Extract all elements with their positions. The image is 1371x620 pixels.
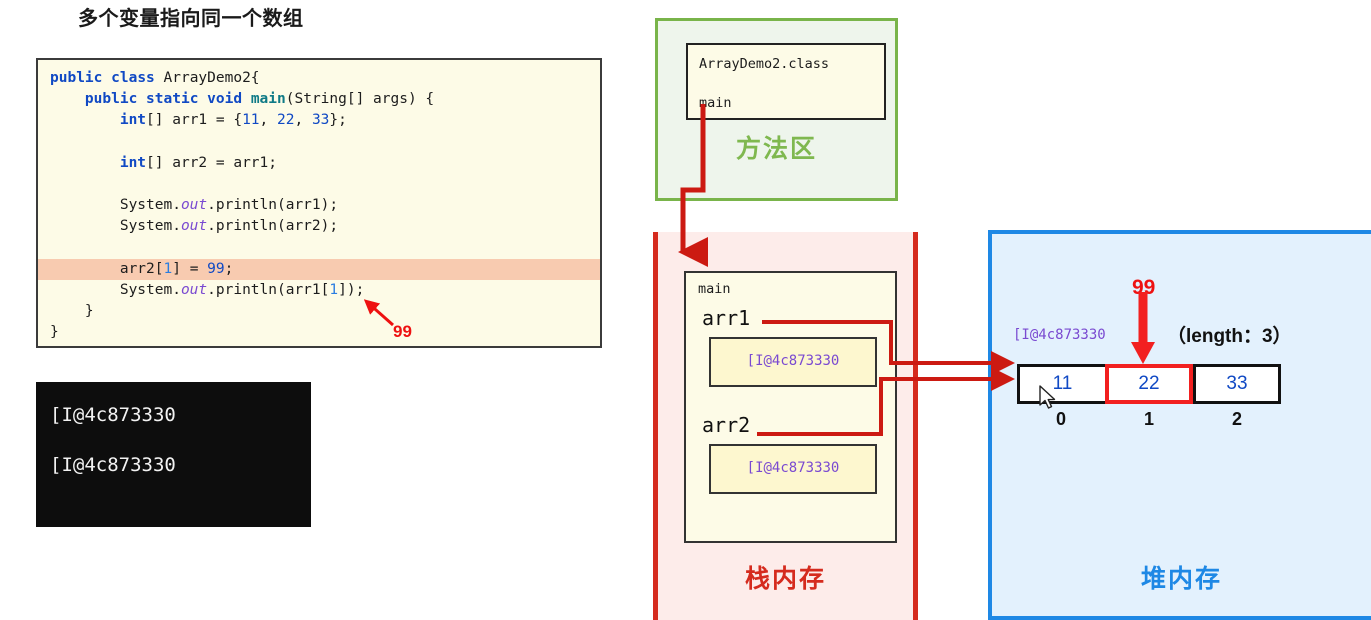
code-line <box>38 238 600 259</box>
code-line: System.out.println(arr1[1]); <box>38 280 600 301</box>
console-line: [I@4c873330 <box>50 454 176 476</box>
code-line: public static void main(String[] args) { <box>38 89 600 110</box>
array-index-0: 0 <box>1017 409 1105 430</box>
stack-memory-label: 栈内存 <box>658 559 913 595</box>
variable-name-arr2: arr2 <box>702 413 750 437</box>
code-line-highlighted: arr2[1] = 99; <box>38 259 600 280</box>
heap-memory-label: 堆内存 <box>992 559 1371 595</box>
method-area-label: 方法区 <box>658 129 895 165</box>
array-cell-1: 22 <box>1105 364 1193 404</box>
code-line: System.out.println(arr2); <box>38 216 600 237</box>
array-index-row: 0 1 2 <box>1017 409 1281 430</box>
variable-slot-arr1: [I@4c873330 <box>709 337 877 387</box>
stack-frame-title: main <box>698 281 731 297</box>
class-name-label: ArrayDemo2.class <box>699 56 829 72</box>
loaded-class-box: ArrayDemo2.class main <box>686 43 886 120</box>
console-output-panel: [I@4c873330 [I@4c873330 <box>36 382 311 527</box>
stack-memory-box: main arr1 [I@4c873330 arr2 [I@4c873330 栈… <box>653 232 918 620</box>
variable-name-arr1: arr1 <box>702 306 750 330</box>
array-cell-2: 33 <box>1193 364 1281 404</box>
heap-memory-box: 99 [I@4c873330 （length：3） 11 22 33 0 1 2… <box>988 230 1371 620</box>
array-index-2: 2 <box>1193 409 1281 430</box>
code-editor-panel: public class ArrayDemo2{ public static v… <box>36 58 602 348</box>
page-title: 多个变量指向同一个数组 <box>78 2 304 31</box>
code-line <box>38 174 600 195</box>
code-line: int[] arr1 = {11, 22, 33}; <box>38 110 600 131</box>
code-line: } <box>38 301 600 322</box>
console-line: [I@4c873330 <box>50 404 176 426</box>
method-name-label: main <box>699 95 732 111</box>
stack-frame-main: main arr1 [I@4c873330 arr2 [I@4c873330 <box>684 271 897 543</box>
code-line: int[] arr2 = arr1; <box>38 153 600 174</box>
code-line: } <box>38 322 600 343</box>
heap-array-address: [I@4c873330 <box>1013 327 1106 343</box>
code-line <box>38 132 600 153</box>
array-index-1: 1 <box>1105 409 1193 430</box>
code-annotation-arrow-icon <box>360 296 396 328</box>
code-line: System.out.println(arr1); <box>38 195 600 216</box>
heap-array-length-label: （length：3） <box>1167 321 1292 348</box>
code-line: public class ArrayDemo2{ <box>38 68 600 89</box>
variable-slot-arr2: [I@4c873330 <box>709 444 877 494</box>
array-cells-row: 11 22 33 <box>1017 364 1281 404</box>
code-annotation-value: 99 <box>393 322 412 342</box>
heap-new-value-label: 99 <box>1132 276 1155 300</box>
variable-value-arr1: [I@4c873330 <box>711 353 875 369</box>
array-cell-0: 11 <box>1017 364 1105 404</box>
variable-value-arr2: [I@4c873330 <box>711 460 875 476</box>
method-area-box: ArrayDemo2.class main 方法区 <box>655 18 898 201</box>
